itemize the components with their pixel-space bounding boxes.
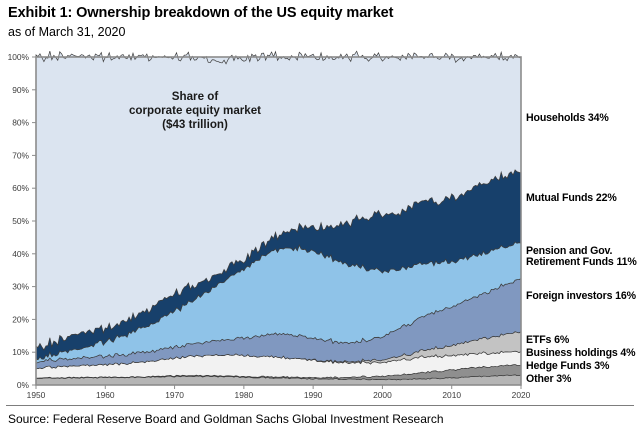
y-tick-label: 90%: [12, 85, 29, 95]
annotation-line-2: corporate equity market: [129, 104, 261, 117]
y-tick-label: 100%: [8, 52, 30, 62]
y-tick-label: 60%: [12, 183, 29, 193]
page-subtitle: as of March 31, 2020: [8, 25, 125, 39]
y-tick-label: 30%: [12, 282, 29, 292]
x-tick-label: 1970: [165, 390, 184, 400]
series-label-mutual-funds: Mutual Funds 22%: [526, 193, 617, 205]
annotation-line-1: Share of: [172, 90, 219, 103]
series-label-etfs: ETFs 6%: [526, 335, 569, 347]
series-label-households: Households 34%: [526, 113, 609, 125]
y-tick-label: 50%: [12, 216, 29, 226]
page-title: Exhibit 1: Ownership breakdown of the US…: [8, 5, 393, 21]
y-tick-label: 10%: [12, 347, 29, 357]
x-tick-label: 1960: [96, 390, 115, 400]
x-tick-label: 1980: [235, 390, 254, 400]
annotation-line-3: ($43 trillion): [162, 118, 228, 131]
exhibit-chart-panel: Exhibit 1: Ownership breakdown of the US…: [0, 0, 640, 441]
series-label-pension-line2: Retirement Funds 11%: [526, 257, 637, 269]
x-tick-label: 2000: [373, 390, 392, 400]
y-tick-label: 20%: [12, 314, 29, 324]
x-tick-label: 1990: [304, 390, 323, 400]
series-label-other: Other 3%: [526, 374, 571, 386]
series-label-hedge-funds: Hedge Funds 3%: [526, 361, 609, 373]
chart-container: 0%10%20%30%40%50%60%70%80%90%100% 195019…: [0, 45, 640, 400]
y-tick-label: 40%: [12, 249, 29, 259]
y-tick-label: 70%: [12, 150, 29, 160]
source-note: Source: Federal Reserve Board and Goldma…: [8, 412, 444, 426]
x-axis-labels: 19501960197019801990200020102020: [27, 390, 531, 400]
series-label-business-holdings: Business holdings 4%: [526, 348, 635, 360]
x-tick-label: 2020: [512, 390, 531, 400]
source-divider: [6, 405, 634, 406]
y-tick-label: 80%: [12, 118, 29, 128]
x-tick-label: 1950: [27, 390, 46, 400]
y-axis-labels: 0%10%20%30%40%50%60%70%80%90%100%: [8, 52, 30, 390]
series-label-foreign-investors: Foreign investors 16%: [526, 291, 636, 303]
y-tick-label: 0%: [17, 380, 30, 390]
x-tick-label: 2010: [442, 390, 461, 400]
area-series-group: [36, 51, 521, 385]
